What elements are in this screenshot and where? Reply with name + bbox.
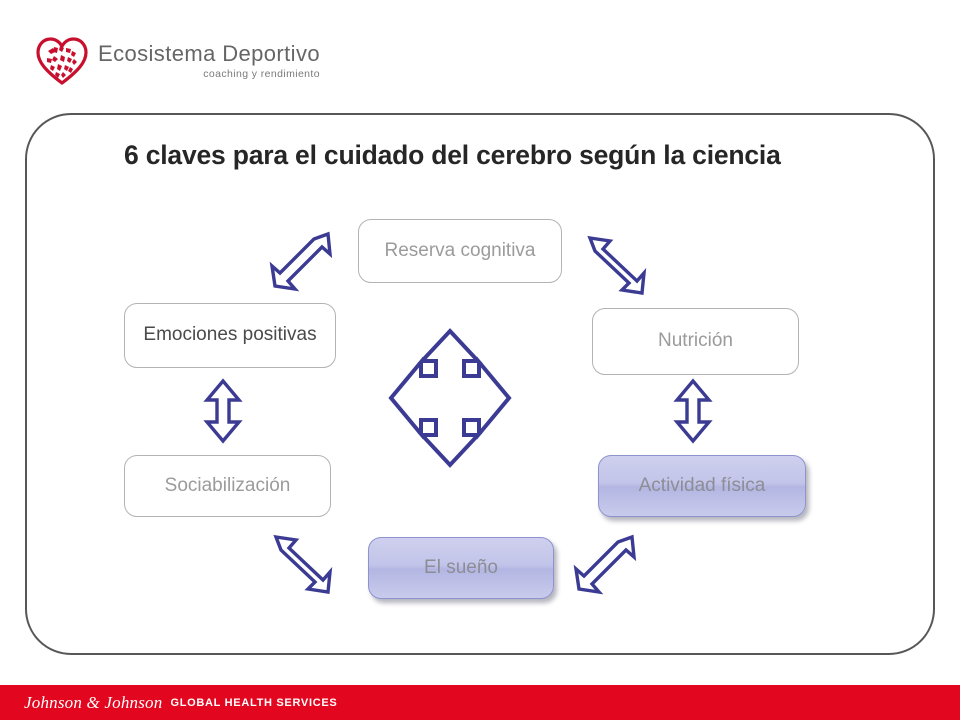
node-emociones-positivas[interactable]: Emociones positivas (124, 303, 336, 368)
node-label: Reserva cognitiva (384, 240, 535, 263)
node-sociabilizacion[interactable]: Sociabilización (124, 455, 331, 517)
node-label: Nutrición (658, 330, 733, 353)
node-label: Actividad física (639, 475, 766, 498)
node-nutricion[interactable]: Nutrición (592, 308, 799, 375)
johnson-and-johnson-wordmark: Johnson & Johnson (24, 693, 162, 713)
double-arrow-vertical-icon (673, 378, 713, 444)
brain-care-cycle-diagram: Reserva cognitiva Emociones positivas Nu… (0, 0, 960, 690)
node-el-sueno[interactable]: El sueño (368, 537, 554, 599)
node-label: Emociones positivas (143, 324, 316, 347)
double-arrow-diagonal-se-icon (580, 232, 652, 296)
double-arrow-diagonal-se-icon (266, 531, 338, 595)
footer-banner: Johnson & Johnson GLOBAL HEALTH SERVICES (0, 685, 960, 720)
node-label: El sueño (424, 557, 498, 580)
double-arrow-diagonal-ne-icon (266, 228, 338, 292)
double-arrow-vertical-icon (203, 378, 243, 444)
node-label: Sociabilización (165, 475, 291, 498)
four-way-arrow-icon (376, 328, 524, 468)
double-arrow-diagonal-ne-icon (570, 531, 642, 595)
node-reserva-cognitiva[interactable]: Reserva cognitiva (358, 219, 562, 283)
footer-subtitle: GLOBAL HEALTH SERVICES (170, 697, 337, 709)
node-actividad-fisica[interactable]: Actividad física (598, 455, 806, 517)
